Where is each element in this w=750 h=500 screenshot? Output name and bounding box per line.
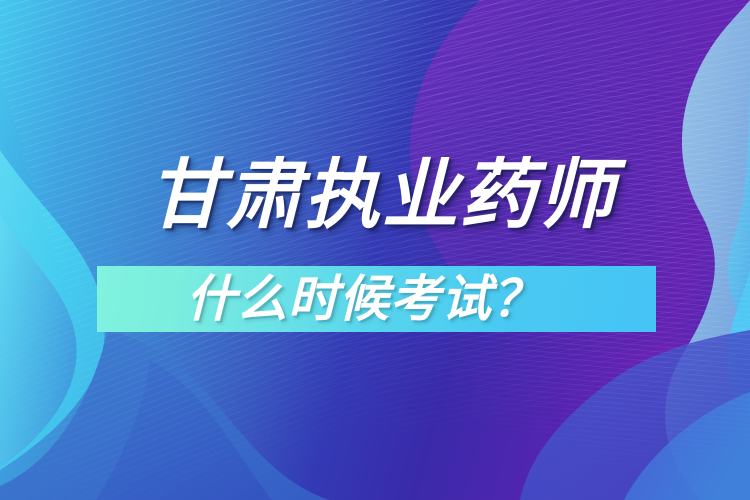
banner-content: 甘肃执业药师 什么时候考试？ — [0, 0, 750, 500]
promo-banner: 甘肃执业药师 什么时候考试？ — [0, 0, 750, 500]
banner-main-title: 甘肃执业药师 — [148, 148, 628, 244]
banner-subtitle: 什么时候考试？ — [186, 268, 546, 330]
